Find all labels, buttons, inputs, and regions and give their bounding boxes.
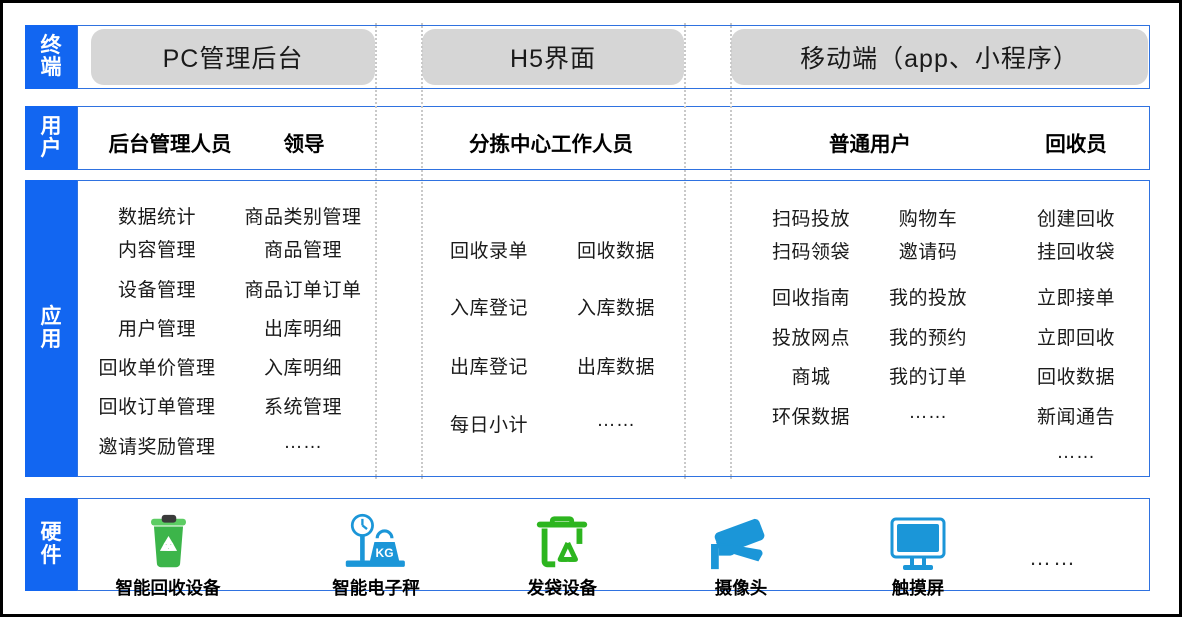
app-item[interactable]: 商品类别管理 — [244, 202, 361, 229]
hardware-more-ellipsis: …… — [1029, 545, 1077, 571]
terminal-chip-h5[interactable]: H5界面 — [422, 29, 684, 85]
app-item[interactable]: 邀请码 — [899, 237, 958, 264]
user-role-normal-user-label: 普通用户 — [829, 133, 911, 156]
hardware-device-camera[interactable]: 摄像头 — [706, 507, 776, 600]
user-role-leader-label: 领导 — [284, 133, 325, 156]
app-item[interactable]: 扫码领袋 — [772, 237, 850, 264]
terminal-chip-mobile-label: 移动端（app、小程序） — [800, 39, 1079, 75]
recycle-trash-outline-icon — [527, 507, 597, 573]
hardware-device-label: 摄像头 — [706, 575, 776, 600]
app-item[interactable]: 用户管理 — [118, 314, 196, 341]
app-item[interactable]: 每日小计 — [450, 410, 528, 437]
app-item[interactable]: 挂回收袋 — [1037, 237, 1115, 264]
terminal-chip-h5-label: H5界面 — [510, 39, 596, 75]
layer-label-application: 应用 — [25, 180, 77, 477]
app-item[interactable]: 商品订单订单 — [244, 275, 361, 302]
hardware-device-bag-dispenser[interactable]: 发袋设备 — [527, 507, 597, 600]
hardware-device-label: 智能电子秤 — [332, 575, 420, 600]
column-divider — [375, 23, 377, 479]
application-row — [77, 180, 1150, 477]
app-item[interactable]: 数据统计 — [118, 202, 196, 229]
app-item[interactable]: …… — [1057, 442, 1096, 464]
app-item[interactable]: 回收数据 — [577, 236, 655, 263]
weighing-scale-icon: KG — [332, 507, 420, 573]
app-item[interactable]: 出库明细 — [264, 314, 342, 341]
app-item[interactable]: 立即接单 — [1037, 283, 1115, 310]
app-item[interactable]: 入库明细 — [264, 353, 342, 380]
app-item[interactable]: 设备管理 — [118, 275, 196, 302]
layer-label-hardware: 硬件 — [25, 498, 77, 591]
app-item[interactable]: 立即回收 — [1037, 323, 1115, 350]
app-item[interactable]: 商品管理 — [264, 235, 342, 262]
hardware-device-label: 触摸屏 — [886, 575, 950, 600]
layer-label-terminal-text: 终端 — [39, 35, 63, 79]
app-item[interactable]: 我的投放 — [889, 283, 967, 310]
app-item[interactable]: 内容管理 — [118, 235, 196, 262]
user-role-leader: 领导 — [284, 127, 325, 157]
app-item[interactable]: 我的预约 — [889, 323, 967, 350]
monitor-icon — [886, 507, 950, 573]
app-item[interactable]: 出库数据 — [577, 352, 655, 379]
app-item[interactable]: 系统管理 — [264, 392, 342, 419]
layer-label-user-text: 用户 — [39, 116, 63, 160]
terminal-chip-pc-admin-label: PC管理后台 — [163, 39, 304, 75]
app-item[interactable]: 邀请奖励管理 — [98, 432, 215, 459]
app-item[interactable]: 出库登记 — [450, 352, 528, 379]
app-item[interactable]: 入库登记 — [450, 293, 528, 320]
architecture-diagram: 终端 PC管理后台 H5界面 移动端（app、小程序） 用户 后台管理人员 领导… — [3, 3, 1179, 614]
user-role-normal-user: 普通用户 — [829, 127, 911, 157]
app-item[interactable]: 回收单价管理 — [98, 353, 215, 380]
app-item[interactable]: 入库数据 — [577, 293, 655, 320]
terminal-chip-mobile[interactable]: 移动端（app、小程序） — [731, 29, 1148, 85]
app-item[interactable]: 回收指南 — [772, 283, 850, 310]
app-item[interactable]: 回收录单 — [450, 236, 528, 263]
column-divider — [684, 23, 686, 479]
user-role-sorting-center-staff: 分拣中心工作人员 — [469, 127, 633, 157]
user-role-recycler: 回收员 — [1045, 127, 1107, 157]
app-item[interactable]: 环保数据 — [772, 402, 850, 429]
hardware-row — [77, 498, 1150, 591]
user-role-backend-admin: 后台管理人员 — [109, 127, 232, 157]
hardware-device-label: 发袋设备 — [527, 575, 597, 600]
svg-text:KG: KG — [375, 546, 393, 560]
layer-label-terminal: 终端 — [25, 25, 77, 89]
app-item[interactable]: 购物车 — [899, 204, 958, 231]
user-role-sorting-center-staff-label: 分拣中心工作人员 — [469, 133, 633, 156]
app-item[interactable]: 我的订单 — [889, 362, 967, 389]
app-item[interactable]: 投放网点 — [772, 323, 850, 350]
app-item[interactable]: 创建回收 — [1037, 204, 1115, 231]
app-item[interactable]: …… — [284, 432, 323, 454]
app-item[interactable]: 扫码投放 — [772, 204, 850, 231]
app-item[interactable]: 回收订单管理 — [98, 392, 215, 419]
column-divider — [421, 23, 423, 479]
app-item[interactable]: 回收数据 — [1037, 362, 1115, 389]
user-role-recycler-label: 回收员 — [1045, 133, 1107, 156]
layer-label-application-text: 应用 — [39, 306, 63, 350]
hardware-device-smart-recycle-bin[interactable]: 智能回收设备 — [116, 507, 221, 600]
app-item[interactable]: 新闻通告 — [1037, 402, 1115, 429]
app-item[interactable]: 商城 — [791, 362, 830, 389]
recycle-bin-icon — [116, 507, 221, 573]
cctv-camera-icon — [706, 507, 776, 573]
hardware-device-smart-scale[interactable]: KG 智能电子秤 — [332, 507, 420, 600]
layer-label-user: 用户 — [25, 106, 77, 170]
app-item[interactable]: …… — [597, 410, 636, 432]
app-item[interactable]: …… — [909, 402, 948, 424]
user-role-backend-admin-label: 后台管理人员 — [109, 133, 232, 156]
column-divider — [730, 23, 732, 479]
layer-label-hardware-text: 硬件 — [39, 522, 63, 566]
terminal-chip-pc-admin[interactable]: PC管理后台 — [91, 29, 375, 85]
hardware-device-label: 智能回收设备 — [116, 575, 221, 600]
hardware-device-touchscreen[interactable]: 触摸屏 — [886, 507, 950, 600]
